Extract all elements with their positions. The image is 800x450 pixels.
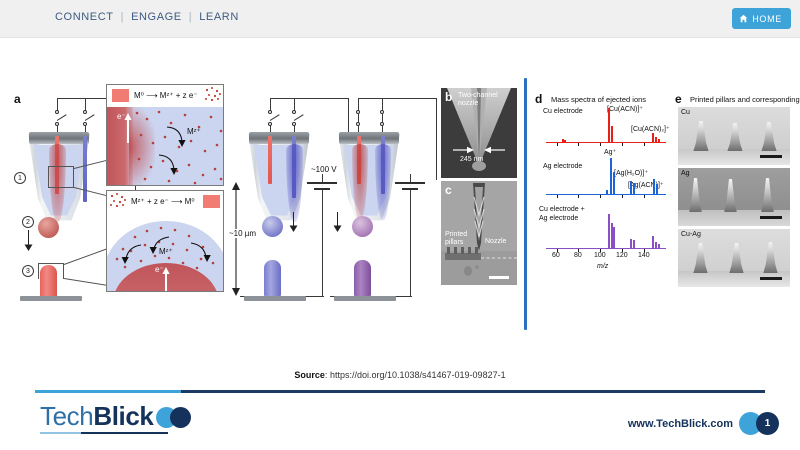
inset-top-equation: M⁰ ⟶ Mᶻ⁺ + z e⁻ bbox=[134, 91, 198, 100]
switch-arm-b1 bbox=[270, 114, 280, 121]
battery-plate-long-b bbox=[307, 182, 337, 184]
panel-b-image: b Two-channel nozzle 245 nm bbox=[441, 88, 517, 178]
peak-cu-5 bbox=[652, 133, 654, 142]
battery-lead-bottom-b bbox=[322, 190, 323, 296]
inset-top-ion-speckle bbox=[204, 86, 224, 104]
peak-cu-4 bbox=[611, 126, 613, 142]
spectrum-ag-tick-140 bbox=[644, 195, 645, 198]
panel-e-scale-bar-cu bbox=[760, 155, 782, 158]
peak-ag-3 bbox=[613, 172, 615, 194]
nozzle-rim-a bbox=[29, 132, 89, 144]
drop-arrow-head-a bbox=[24, 244, 33, 251]
inset-bottom-curved-arrow-right bbox=[189, 241, 211, 263]
substrate-b bbox=[244, 296, 306, 301]
panel-e-label-cu: Cu bbox=[681, 109, 690, 116]
substrate-c bbox=[334, 296, 396, 301]
source-line: Source: https://doi.org/10.1038/s41467-0… bbox=[0, 370, 800, 380]
step-marker-2: 2 bbox=[22, 216, 34, 228]
inset-bottom-electron-arrow bbox=[162, 267, 170, 292]
xtick-label-100: 100 bbox=[594, 252, 606, 259]
panel-e-label-ag: Ag bbox=[681, 170, 690, 177]
switch-closed-c1 bbox=[358, 114, 359, 122]
page-number-badge: 1 bbox=[739, 412, 782, 435]
panel-a-letter: a bbox=[14, 92, 21, 106]
spectrum-cu-tick-140 bbox=[644, 143, 645, 146]
drop-arrow-head-c bbox=[333, 225, 342, 232]
switch-node-1 bbox=[55, 110, 59, 114]
spectrum-ag-tick-100 bbox=[600, 195, 601, 198]
spectrum-cu-tick-80 bbox=[578, 143, 579, 146]
panel-c-label-right: Nozzle bbox=[485, 238, 506, 245]
panel-c-label-left: Printed pillars bbox=[445, 231, 471, 247]
inset-top-ion-dots bbox=[133, 107, 224, 186]
logo-dot-dark-icon bbox=[170, 407, 191, 428]
panel-c-image: c Printed pillars Nozzle bbox=[441, 181, 517, 285]
inset-bottom-ion-speckle bbox=[109, 192, 129, 210]
peak-ag-5 bbox=[633, 183, 635, 194]
nav-separator-2: | bbox=[189, 11, 192, 23]
nav-separator-1: | bbox=[121, 11, 124, 23]
panel-e-image-cu: Cu bbox=[678, 107, 790, 165]
ejected-droplet-b bbox=[262, 216, 283, 237]
panel-e-title: Printed pillars and corresponding E bbox=[690, 95, 800, 104]
panel-b-letter: b bbox=[445, 90, 452, 104]
spectrum-cu-tick-120 bbox=[622, 143, 623, 146]
switch-arm-b2 bbox=[294, 114, 304, 121]
substrate-a bbox=[20, 296, 82, 301]
peak-ag-4 bbox=[630, 181, 632, 194]
panel-c-scale-bar bbox=[489, 276, 509, 279]
spectrum-ag-tick-120 bbox=[622, 195, 623, 198]
panel-e-scale-bar-cuag bbox=[760, 277, 782, 280]
home-button-label: HOME bbox=[752, 14, 782, 24]
ejected-droplet-c bbox=[352, 216, 373, 237]
source-label: Source bbox=[294, 370, 325, 380]
switch-arm-1 bbox=[57, 114, 67, 121]
spectrum-cu-plot bbox=[546, 106, 666, 142]
scale-arrow-b bbox=[231, 182, 241, 296]
voltage-label-b: ~100 V bbox=[311, 165, 337, 174]
spectrum-ag-axis bbox=[546, 194, 666, 195]
peak-cuag-3 bbox=[613, 227, 615, 248]
nozzle-rim-b bbox=[249, 132, 309, 144]
footer-website-url[interactable]: www.TechBlick.com bbox=[628, 418, 733, 430]
panel-e-label-cuag: Cu-Ag bbox=[681, 231, 701, 238]
drop-arrow-shaft-b bbox=[293, 212, 294, 226]
nav-item-engage[interactable]: ENGAGE bbox=[131, 11, 182, 23]
battery-lead-bottom-c bbox=[410, 190, 411, 296]
step-marker-3: 3 bbox=[22, 265, 34, 277]
switch-arm-2 bbox=[85, 114, 95, 121]
peak-ag-2 bbox=[610, 158, 612, 194]
home-icon bbox=[739, 14, 748, 23]
switch-closed-c2 bbox=[382, 114, 383, 122]
electrode-rod-blue-a bbox=[83, 136, 87, 202]
logo-underline bbox=[40, 432, 168, 434]
source-url[interactable]: https://doi.org/10.1038/s41467-019-09827… bbox=[330, 370, 506, 380]
ion-plume-blue-b bbox=[286, 144, 303, 222]
panel-d-title: Mass spectra of ejected ions bbox=[551, 95, 646, 104]
peak-ag-7 bbox=[656, 184, 658, 194]
inset-bottom-color-swatch bbox=[203, 195, 220, 208]
nozzle-rim-c bbox=[339, 132, 399, 144]
electrode-rod-red-b bbox=[268, 136, 272, 184]
spectrum-ag-tick-60 bbox=[557, 195, 558, 198]
spectrum-cu-tick-100 bbox=[600, 143, 601, 146]
drop-arrow-head-b bbox=[289, 225, 298, 232]
nav-links: CONNECT | ENGAGE | LEARN bbox=[55, 11, 239, 23]
spectrum-ag-annotation-1: Ag⁺ bbox=[604, 148, 616, 156]
panel-e-letter: e bbox=[675, 92, 682, 106]
spectrum-ag-tick-80 bbox=[578, 195, 579, 198]
zoom-region-box-bottom bbox=[38, 263, 64, 279]
peak-cu-3 bbox=[608, 108, 610, 142]
source-separator: : bbox=[325, 370, 328, 380]
xtick-label-80: 80 bbox=[574, 252, 582, 259]
xtick-label-120: 120 bbox=[616, 252, 628, 259]
panel-b-title: Two-channel nozzle bbox=[458, 92, 514, 108]
section-divider bbox=[524, 78, 527, 330]
step-marker-1: 1 bbox=[14, 172, 26, 184]
logo-dots bbox=[156, 405, 196, 429]
battery-lead-top-b bbox=[322, 174, 323, 182]
zoom-region-box-top bbox=[48, 166, 74, 188]
xtick-label-60: 60 bbox=[552, 252, 560, 259]
top-navigation-bar: CONNECT | ENGAGE | LEARN HOME bbox=[0, 0, 800, 38]
circuit-wire-right-c bbox=[436, 98, 437, 180]
switch-node-b3 bbox=[292, 110, 296, 114]
drop-arrow-shaft-a bbox=[28, 230, 29, 245]
panel-b-dimension-label: 245 nm bbox=[460, 156, 483, 163]
page-number: 1 bbox=[756, 412, 779, 435]
inset-bottom-curved-arrow-left bbox=[121, 243, 143, 265]
panel-d-letter: d bbox=[535, 92, 542, 106]
inset-oxidation: M⁰ ⟶ Mᶻ⁺ + z e⁻ e⁻ Mᶻ⁺ bbox=[106, 84, 224, 186]
logo-text-blick: Blick bbox=[93, 401, 153, 431]
figure-container: a 1 2 3 bbox=[0, 60, 800, 345]
peak-cuag-1 bbox=[608, 214, 610, 248]
spectrum-ag-plot bbox=[546, 156, 666, 194]
ejected-droplet-a bbox=[38, 217, 59, 238]
home-button[interactable]: HOME bbox=[732, 8, 791, 29]
panel-c-letter: c bbox=[445, 183, 452, 197]
techblick-logo[interactable]: TechBlick bbox=[40, 403, 196, 430]
spectrum-cu-ag-plot bbox=[546, 212, 666, 248]
leader-line-3 bbox=[64, 247, 111, 265]
panel-e-image-ag: Ag bbox=[678, 168, 790, 226]
nav-item-connect[interactable]: CONNECT bbox=[55, 11, 114, 23]
battery-plate-long-c bbox=[395, 182, 425, 184]
switch-node-3 bbox=[83, 110, 87, 114]
footer-divider bbox=[35, 390, 765, 393]
inset-bottom-equation: Mᶻ⁺ + z e⁻ ⟶ M⁰ bbox=[131, 197, 195, 206]
xtick-label-140: 140 bbox=[638, 252, 650, 259]
spectrum-cu-axis bbox=[546, 142, 666, 143]
panel-b-dimension-arrows bbox=[453, 146, 505, 154]
peak-cuag-5 bbox=[633, 240, 635, 248]
panel-e-image-cuag: Cu-Ag bbox=[678, 229, 790, 287]
inset-top-color-swatch bbox=[112, 89, 129, 102]
spectrum-cu-ag-axis bbox=[546, 248, 666, 249]
printed-pillar-b bbox=[264, 260, 281, 296]
logo-text-tech: Tech bbox=[40, 401, 93, 431]
nozzle-body-c bbox=[338, 132, 400, 224]
inset-reduction: Mᶻ⁺ + z e⁻ ⟶ M⁰ bbox=[106, 190, 224, 292]
inset-bottom-curved-arrow-mid bbox=[149, 235, 171, 255]
circuit-wire-top-c bbox=[358, 98, 436, 99]
spectrum-cu-tick-60 bbox=[557, 143, 558, 146]
peak-cuag-4 bbox=[630, 239, 632, 248]
nav-item-learn[interactable]: LEARN bbox=[199, 11, 239, 23]
panel-e-scale-bar-ag bbox=[760, 216, 782, 219]
inset-top-electron-arrow bbox=[124, 113, 132, 143]
scale-label-b: ~10 µm bbox=[228, 229, 257, 238]
peak-cuag-6 bbox=[652, 236, 654, 248]
peak-ag-6 bbox=[653, 179, 655, 194]
printed-pillar-c bbox=[354, 260, 371, 296]
panel-d-xlabel: m/z bbox=[597, 263, 608, 270]
drop-arrow-shaft-c bbox=[337, 212, 338, 226]
switch-node-b1 bbox=[268, 110, 272, 114]
battery-lead-top-c bbox=[410, 174, 411, 182]
ion-plume-blue-c bbox=[375, 144, 391, 220]
footer-right: www.TechBlick.com 1 bbox=[628, 412, 782, 435]
slide-page: CONNECT | ENGAGE | LEARN HOME a bbox=[0, 0, 800, 450]
circuit-wire-top-b bbox=[270, 98, 348, 99]
